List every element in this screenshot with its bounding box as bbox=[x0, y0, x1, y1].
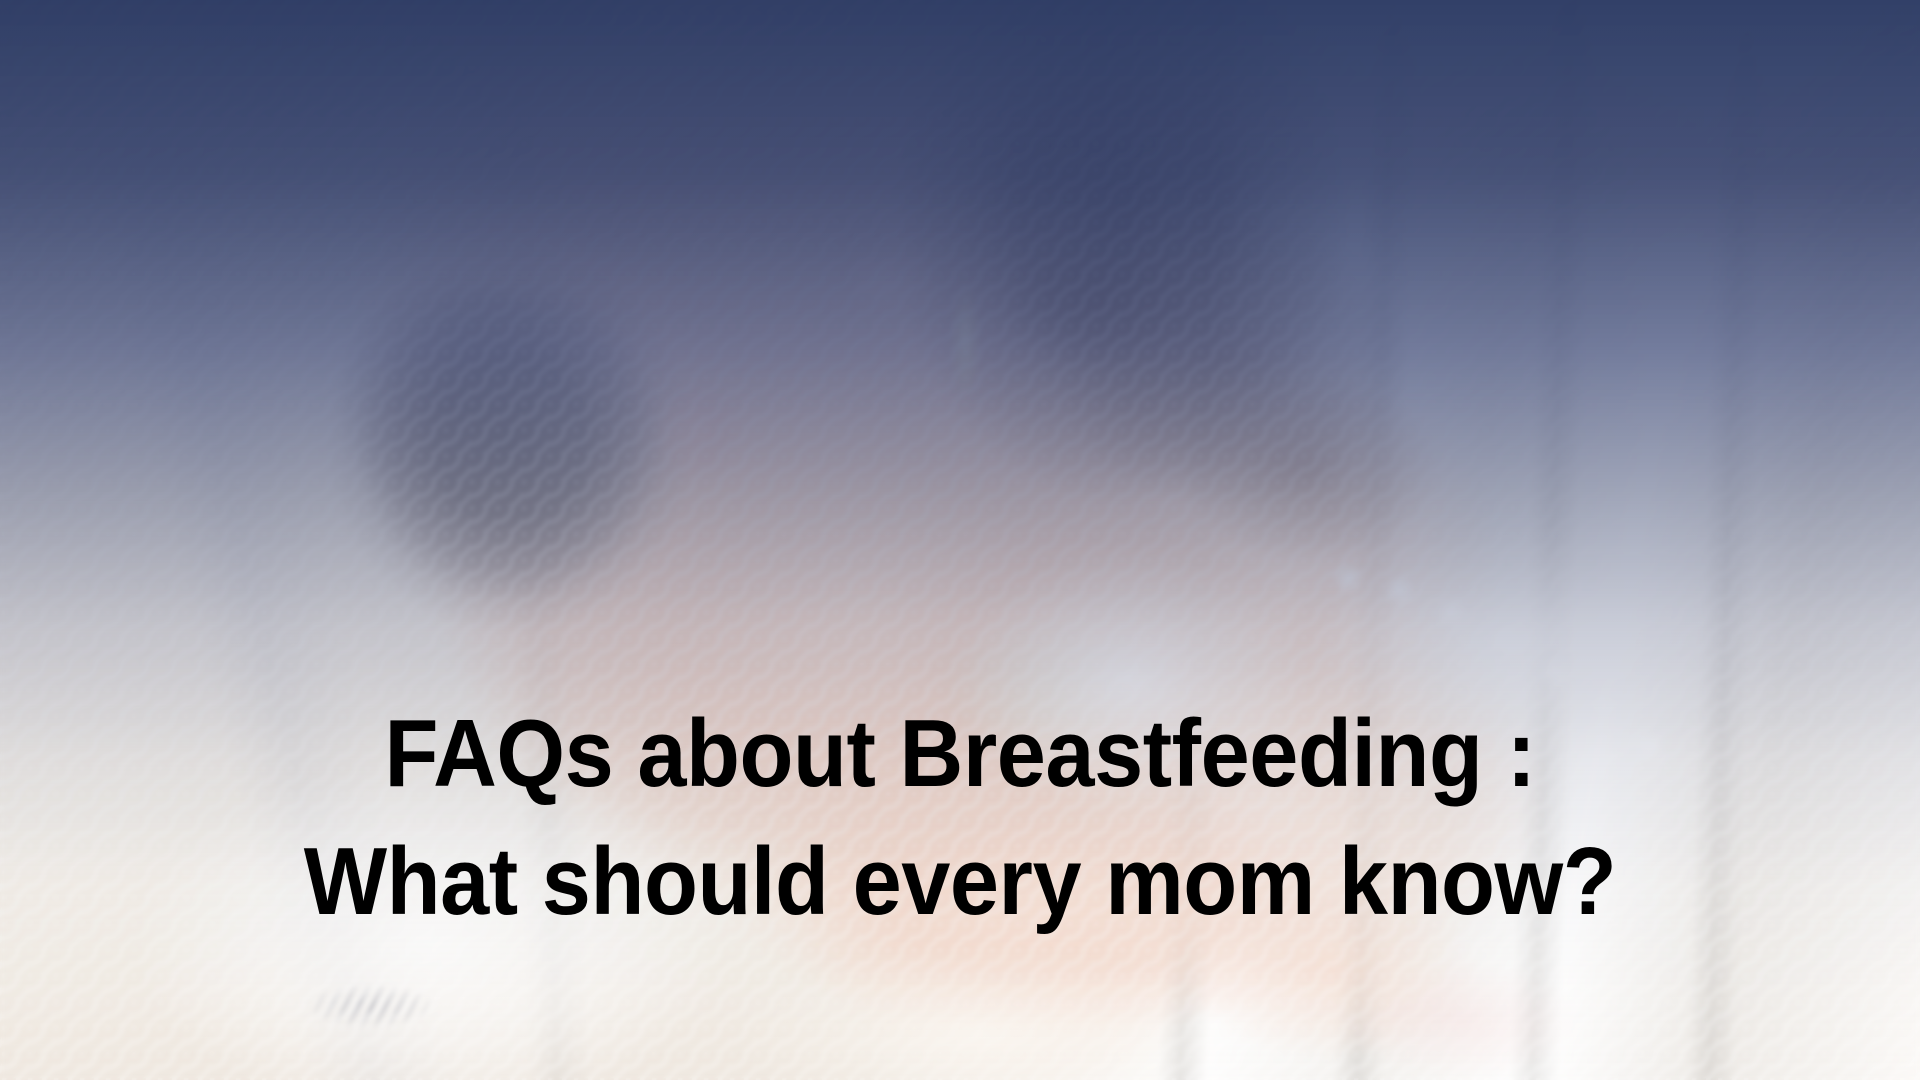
banner-title: FAQs about Breastfeeding : What should e… bbox=[0, 690, 1920, 946]
title-line-2: What should every mom know? bbox=[114, 818, 1807, 946]
hero-banner: FAQs about Breastfeeding : What should e… bbox=[0, 0, 1920, 1080]
title-line-1: FAQs about Breastfeeding : bbox=[114, 690, 1807, 818]
